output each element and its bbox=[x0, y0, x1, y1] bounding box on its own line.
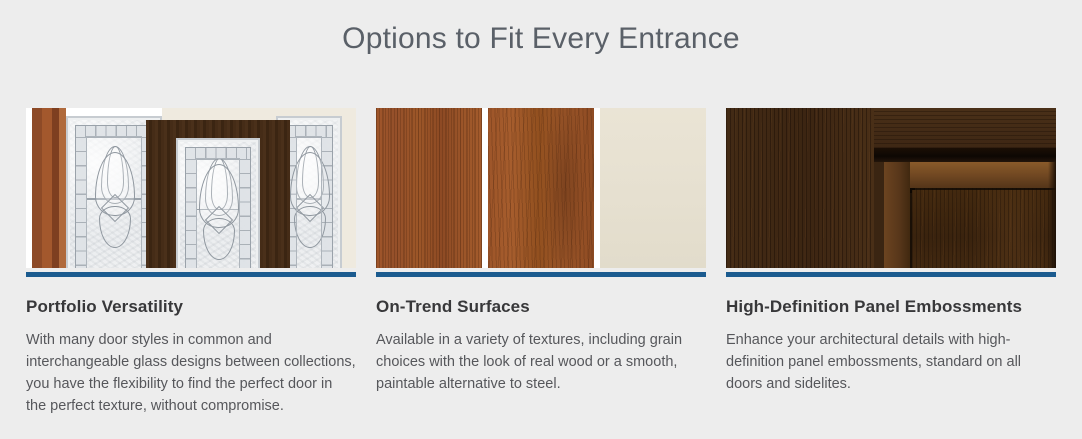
card-body-text: With many door styles in common and inte… bbox=[26, 329, 356, 417]
glass-leaf-motif bbox=[195, 158, 241, 244]
embossed-panel-corner-image bbox=[726, 108, 1056, 268]
feature-card-row: Portfolio Versatility With many door sty… bbox=[26, 108, 1056, 417]
swatch-wood-grain-2 bbox=[488, 108, 594, 268]
card-heading: High-Definition Panel Embossments bbox=[726, 296, 1056, 318]
panel-shadow-line bbox=[874, 148, 1056, 162]
door-stile bbox=[726, 108, 874, 268]
decorative-glass-center bbox=[176, 138, 260, 268]
glass-leaf-motif bbox=[91, 146, 137, 232]
panel-edge-shadow bbox=[1048, 162, 1056, 268]
finish-swatches-illustration bbox=[376, 108, 706, 268]
glass-caming-left bbox=[186, 160, 197, 268]
glass-caming-top bbox=[286, 126, 332, 138]
door-panels-illustration bbox=[26, 108, 356, 268]
panel-bevel-left bbox=[884, 162, 910, 268]
door-panel-cherry bbox=[26, 108, 162, 268]
decorative-glass-door-panels-image bbox=[26, 108, 356, 268]
glass-mullion bbox=[296, 198, 322, 199]
panel-field bbox=[912, 190, 1056, 268]
card-heading: On-Trend Surfaces bbox=[376, 296, 706, 318]
feature-card-panel-embossments[interactable]: High-Definition Panel Embossments Enhanc… bbox=[726, 108, 1056, 417]
card-accent-rule bbox=[26, 272, 356, 277]
swatch-smooth-cream bbox=[600, 108, 706, 268]
door-panel-walnut bbox=[146, 120, 290, 268]
feature-card-portfolio-versatility[interactable]: Portfolio Versatility With many door sty… bbox=[26, 108, 356, 417]
glass-leaf-motif bbox=[286, 146, 332, 232]
options-section: Options to Fit Every Entrance bbox=[0, 0, 1082, 439]
glass-caming-top bbox=[76, 126, 152, 138]
card-heading: Portfolio Versatility bbox=[26, 296, 356, 318]
feature-card-on-trend-surfaces[interactable]: On-Trend Surfaces Available in a variety… bbox=[376, 108, 706, 417]
card-body-text: Enhance your architectural details with … bbox=[726, 329, 1056, 395]
embossed-panel-illustration bbox=[726, 108, 1056, 268]
door-rail bbox=[874, 108, 1056, 148]
section-title: Options to Fit Every Entrance bbox=[0, 20, 1082, 58]
card-body-text: Available in a variety of textures, incl… bbox=[376, 329, 706, 395]
swatch-wood-grain-1 bbox=[376, 108, 482, 268]
glass-caming-left bbox=[76, 138, 87, 268]
glass-mullion bbox=[196, 209, 240, 210]
glass-mullion bbox=[86, 198, 142, 199]
card-accent-rule bbox=[376, 272, 706, 277]
card-accent-rule bbox=[726, 272, 1056, 277]
finish-swatches-image bbox=[376, 108, 706, 268]
